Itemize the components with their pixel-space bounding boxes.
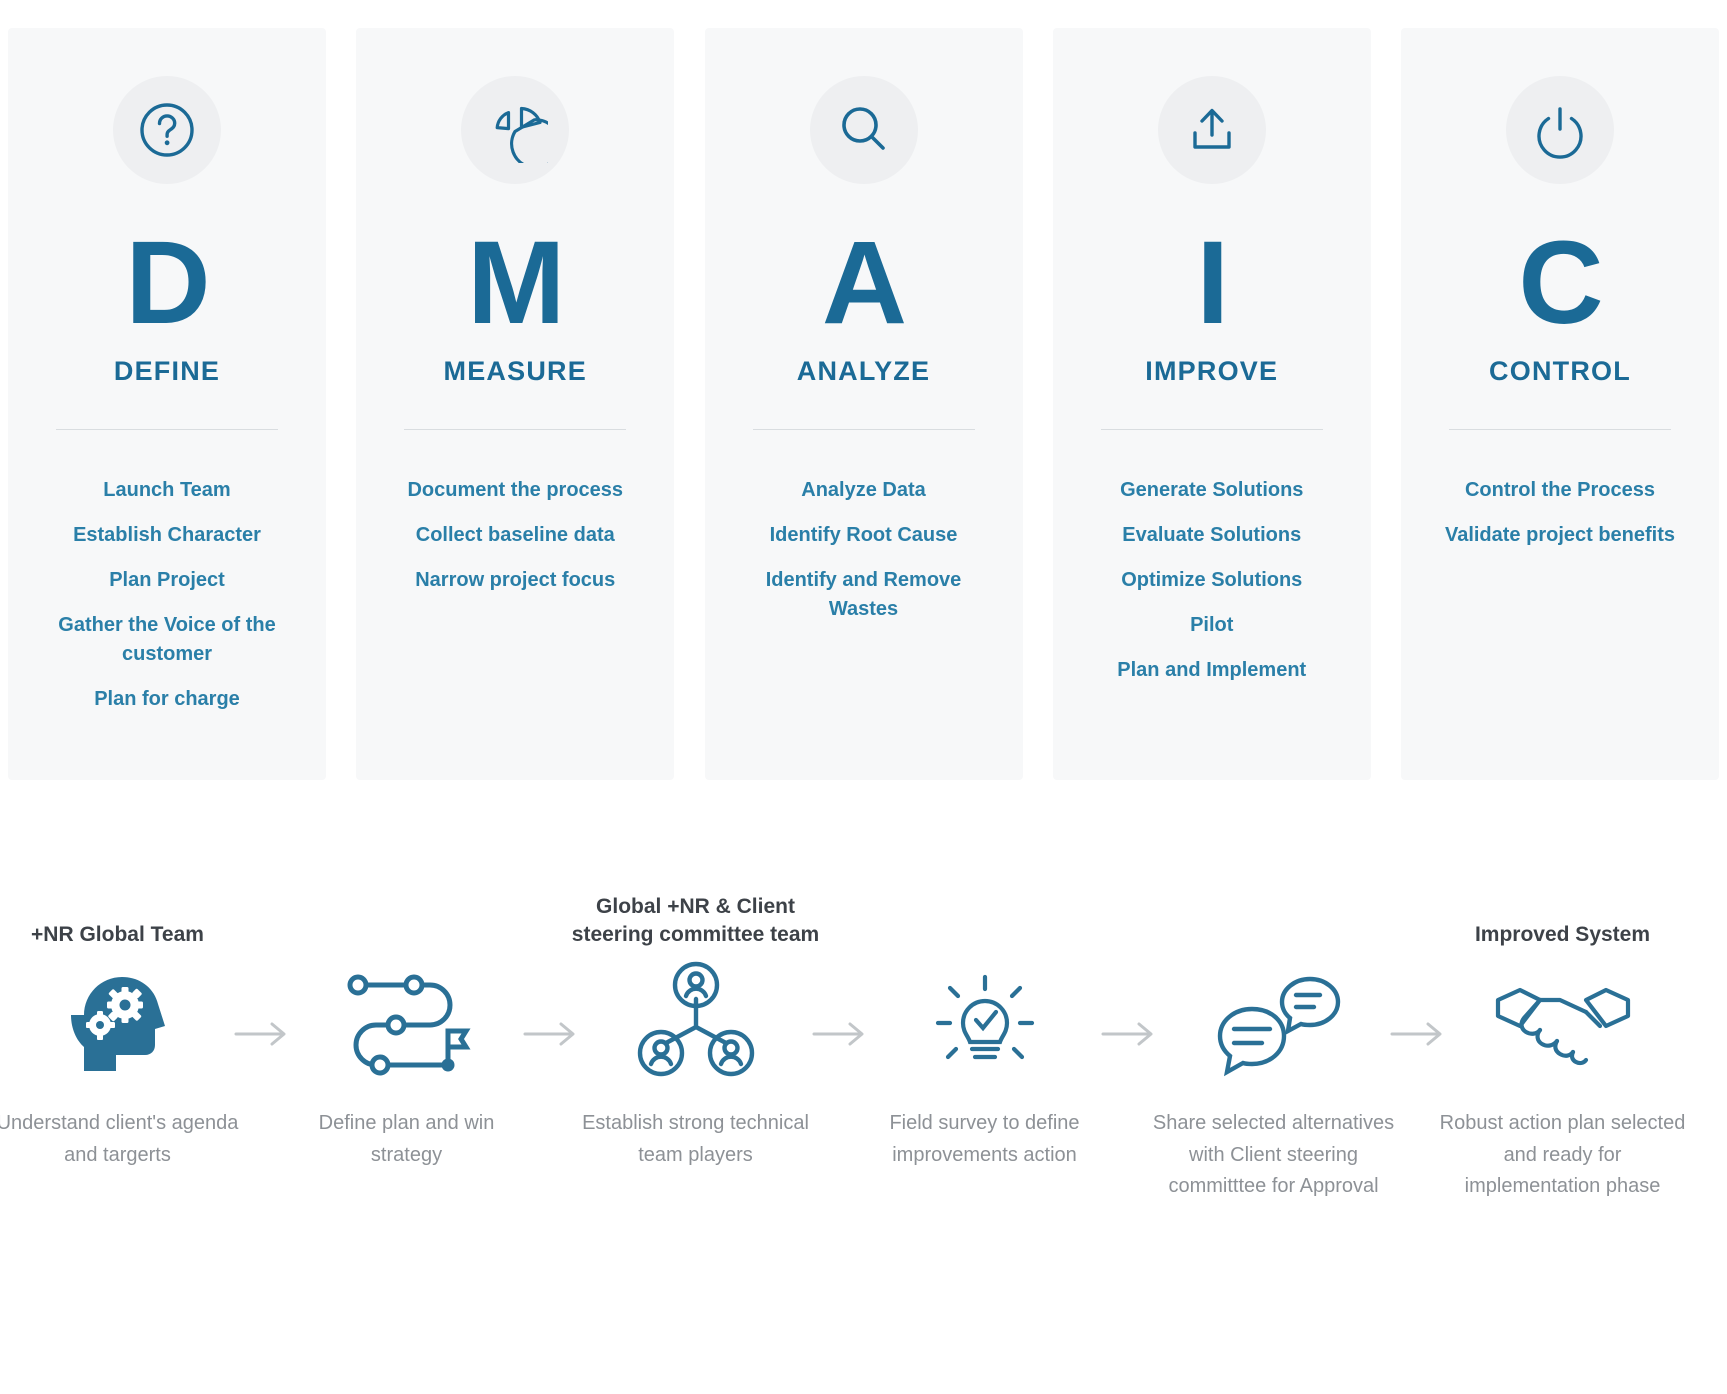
flow-step-caption: Robust action plan selected and ready fo… <box>1438 1108 1688 1203</box>
roadmap-flag-icon <box>336 956 478 1086</box>
flow-step-4[interactable]: Field survey to define improvements acti… <box>877 870 1092 1171</box>
phase-bullet-list: Analyze Data Identify Root Cause Identif… <box>735 476 993 624</box>
phase-name: ANALYZE <box>797 356 930 387</box>
card-divider <box>404 429 626 430</box>
phase-bullet-list: Launch Team Establish Character Plan Pro… <box>38 476 296 714</box>
list-item: Validate project benefits <box>1445 521 1675 550</box>
lightbulb-check-icon <box>917 956 1053 1086</box>
card-divider <box>1101 429 1323 430</box>
list-item: Collect baseline data <box>416 521 615 550</box>
power-button-icon <box>1506 76 1614 184</box>
phase-name: IMPROVE <box>1145 356 1278 387</box>
speech-bubbles-icon <box>1204 956 1344 1086</box>
flow-step-3[interactable]: Global +NR & Client steering committee t… <box>588 870 803 1171</box>
list-item: Analyze Data <box>801 476 926 505</box>
phase-bullet-list: Generate Solutions Evaluate Solutions Op… <box>1083 476 1341 685</box>
phase-card-measure[interactable]: M MEASURE Document the process Collect b… <box>356 28 674 780</box>
list-item: Identify Root Cause <box>770 521 958 550</box>
flow-step-caption: Establish strong technical team players <box>571 1108 821 1171</box>
list-item: Pilot <box>1190 611 1233 640</box>
flow-step-header <box>855 870 1115 948</box>
card-divider <box>56 429 278 430</box>
list-item: Plan for charge <box>94 685 240 714</box>
phase-letter: M <box>467 224 563 342</box>
phase-name: CONTROL <box>1489 356 1631 387</box>
list-item: Control the Process <box>1465 476 1655 505</box>
phase-card-define[interactable]: D DEFINE Launch Team Establish Character… <box>8 28 326 780</box>
list-item: Optimize Solutions <box>1121 566 1302 595</box>
list-item: Launch Team <box>103 476 230 505</box>
phase-card-improve[interactable]: I IMPROVE Generate Solutions Evaluate So… <box>1053 28 1371 780</box>
list-item: Narrow project focus <box>415 566 615 595</box>
question-mark-circle-icon <box>113 76 221 184</box>
flow-step-5[interactable]: Share selected alternatives with Client … <box>1166 870 1381 1203</box>
flow-step-caption: Define plan and win strategy <box>282 1108 532 1171</box>
flow-step-header-label: Global +NR & Client steering committee t… <box>566 893 826 948</box>
phase-bullet-list: Document the process Collect baseline da… <box>386 476 644 595</box>
phase-bullet-list: Control the Process Validate project ben… <box>1431 476 1689 550</box>
flow-step-header: +NR Global Team <box>0 870 248 948</box>
dmaic-infographic: D DEFINE Launch Team Establish Character… <box>0 0 1727 1394</box>
engagement-flow: +NR Global Team <box>0 870 1727 1370</box>
flow-step-header-label: Improved System <box>1475 921 1650 948</box>
list-item: Document the process <box>407 476 623 505</box>
list-item: Gather the Voice of the customer <box>38 611 296 669</box>
list-item: Evaluate Solutions <box>1122 521 1301 550</box>
phase-name: MEASURE <box>444 356 587 387</box>
list-item: Generate Solutions <box>1120 476 1303 505</box>
list-item: Identify and Remove Wastes <box>735 566 993 624</box>
phase-name: DEFINE <box>114 356 220 387</box>
phase-card-control[interactable]: C CONTROL Control the Process Validate p… <box>1401 28 1719 780</box>
handshake-icon <box>1488 956 1638 1086</box>
head-with-gears-icon <box>56 956 180 1086</box>
list-item: Plan Project <box>109 566 225 595</box>
magnifying-glass-icon <box>810 76 918 184</box>
phase-letter: A <box>822 224 905 342</box>
phase-card-analyze[interactable]: A ANALYZE Analyze Data Identify Root Cau… <box>705 28 1023 780</box>
flow-step-header: Global +NR & Client steering committee t… <box>566 870 826 948</box>
flow-step-2[interactable]: Define plan and win strategy <box>299 870 514 1171</box>
dmaic-phase-row: D DEFINE Launch Team Establish Character… <box>0 28 1727 788</box>
phase-letter: D <box>125 224 208 342</box>
upload-tray-icon <box>1158 76 1266 184</box>
flow-step-caption: Field survey to define improvements acti… <box>860 1108 1110 1171</box>
team-network-icon <box>631 956 761 1086</box>
list-item: Plan and Implement <box>1117 656 1306 685</box>
card-divider <box>1449 429 1671 430</box>
flow-step-header <box>277 870 537 948</box>
phase-letter: C <box>1518 224 1601 342</box>
flow-step-header <box>1144 870 1404 948</box>
flow-track: +NR Global Team <box>10 870 1717 1370</box>
flow-step-header-label: +NR Global Team <box>31 921 204 948</box>
flow-step-caption: Understand client's agenda and targerts <box>0 1108 243 1171</box>
flow-step-1[interactable]: +NR Global Team <box>10 870 225 1171</box>
list-item: Establish Character <box>73 521 261 550</box>
phase-letter: I <box>1196 224 1227 342</box>
flow-step-caption: Share selected alternatives with Client … <box>1149 1108 1399 1203</box>
card-divider <box>753 429 975 430</box>
flow-step-6[interactable]: Improved System Robust action plan sele <box>1455 870 1670 1203</box>
pie-chart-icon <box>461 76 569 184</box>
flow-step-header: Improved System <box>1433 870 1693 948</box>
